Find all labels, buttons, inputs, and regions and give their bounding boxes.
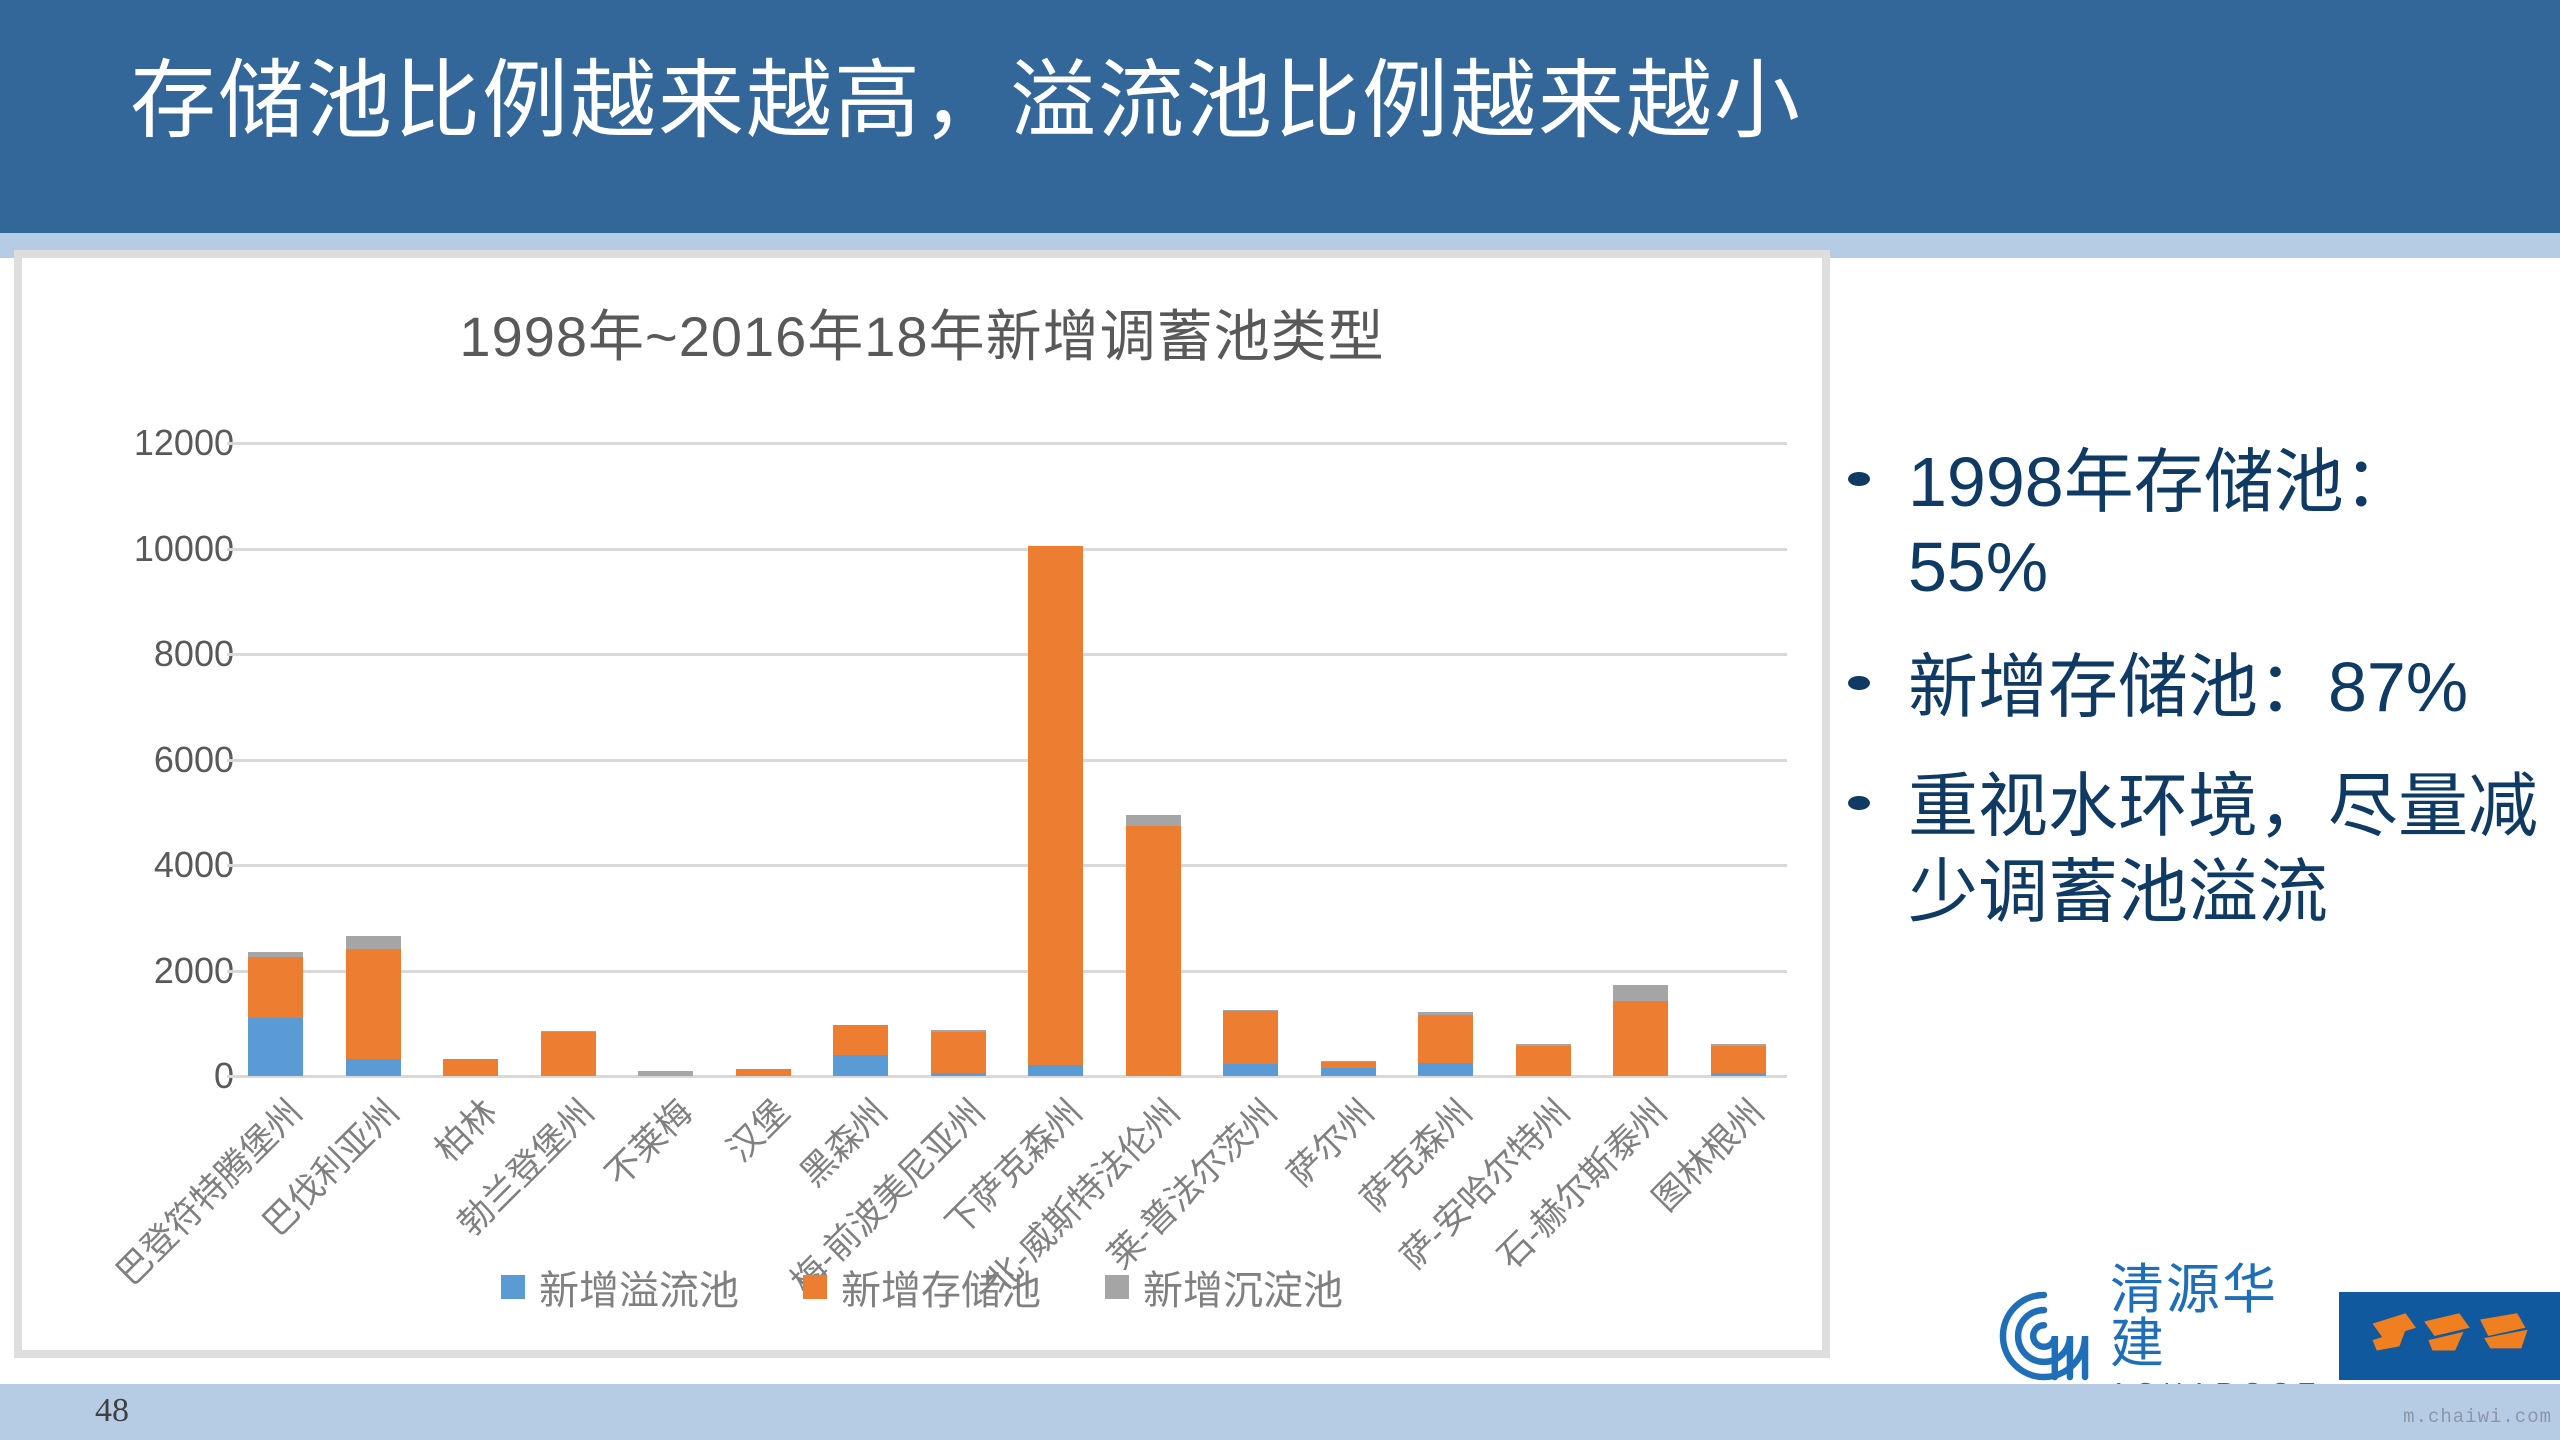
bar-segment[interactable] [1028,1065,1083,1076]
chart-plot-area [227,443,1787,1076]
bullet-text: 1998年存储池：55% [1908,443,2414,606]
bar-stack[interactable] [248,952,303,1076]
bar-stack[interactable] [736,1069,791,1076]
bar-group[interactable] [422,443,520,1076]
bar-segment[interactable] [1711,1046,1766,1073]
bar-segment[interactable] [1418,1063,1473,1076]
slide-root: 存储池比例越来越高，溢流池比例越来越小 1998年~2016年18年新增调蓄池类… [0,0,2560,1440]
legend-label: 新增存储池 [841,1258,1041,1316]
bullet-dot-icon [1848,676,1870,690]
bullet-item: 1998年存储池：55% [1830,440,2550,611]
bar-group[interactable] [1202,443,1300,1076]
bar-segment[interactable] [1223,1064,1278,1076]
bar-stack[interactable] [1711,1044,1766,1076]
bar-segment[interactable] [541,1032,596,1076]
chart-title: 1998年~2016年18年新增调蓄池类型 [22,292,1822,373]
bar-group[interactable] [1105,443,1203,1076]
bar-stack[interactable] [541,1031,596,1076]
chart-card: 1998年~2016年18年新增调蓄池类型 020004000600080001… [14,250,1830,1358]
bar-group[interactable] [227,443,325,1076]
y-axis-tick-label: 4000 [154,844,234,886]
watermark-label: m.chaiwi.com [2403,1406,2552,1428]
y-axis-tick-label: 12000 [134,422,234,464]
bar-stack[interactable] [1321,1061,1376,1076]
bar-stack[interactable] [638,1071,693,1076]
bar-segment[interactable] [1126,826,1181,1076]
bar-segment[interactable] [1223,1011,1278,1064]
x-axis-tick-label: 不莱梅 [591,1086,701,1196]
bar-group[interactable] [715,443,813,1076]
bar-segment[interactable] [248,957,303,1018]
bar-segment[interactable] [833,1055,888,1076]
bar-segment[interactable] [931,1032,986,1073]
bar-segment[interactable] [1028,546,1083,1065]
bar-segment[interactable] [1321,1068,1376,1076]
bar-group[interactable] [1300,443,1398,1076]
legend-swatch-icon [501,1275,525,1299]
y-axis-tick-label: 10000 [134,528,234,570]
y-axis-tick-label: 8000 [154,633,234,675]
bullet-text: 重视水环境，尽量减少调蓄池溢流 [1908,767,2538,930]
bar-segment[interactable] [1126,815,1181,826]
chart-bars [227,443,1787,1076]
bullet-item: 新增存储池：87% [1830,645,2550,730]
bullet-list: 1998年存储池：55%新增存储池：87%重视水环境，尽量减少调蓄池溢流 [1830,440,2550,969]
bar-stack[interactable] [1418,1012,1473,1076]
bullet-text: 新增存储池：87% [1908,648,2468,726]
brand-name-cn: 清源华建 [2110,1263,2333,1371]
legend-swatch-icon [803,1275,827,1299]
bar-group[interactable] [520,443,618,1076]
bar-group[interactable] [812,443,910,1076]
bar-group[interactable] [1007,443,1105,1076]
bar-stack[interactable] [346,936,401,1076]
bgu-logo [2339,1292,2560,1380]
bar-group[interactable] [1690,443,1788,1076]
bullet-dot-icon [1848,796,1870,810]
bar-segment[interactable] [443,1059,498,1076]
bar-segment[interactable] [346,936,401,949]
y-axis-tick-label: 6000 [154,739,234,781]
page-title: 存储池比例越来越高，溢流池比例越来越小 [130,48,1802,156]
bar-group[interactable] [1495,443,1593,1076]
bar-segment[interactable] [1516,1046,1571,1076]
bar-segment[interactable] [736,1069,791,1076]
bar-stack[interactable] [1613,985,1668,1076]
bar-stack[interactable] [1223,1010,1278,1076]
y-axis-tick-label: 2000 [154,950,234,992]
bar-stack[interactable] [833,1025,888,1076]
bar-segment[interactable] [346,1059,401,1076]
bar-segment[interactable] [1613,985,1668,1000]
bar-stack[interactable] [1516,1044,1571,1076]
legend-label: 新增沉淀池 [1143,1258,1343,1316]
bar-group[interactable] [617,443,715,1076]
legend-item[interactable]: 新增存储池 [803,1258,1041,1316]
bar-stack[interactable] [1028,546,1083,1076]
bar-segment[interactable] [248,1018,303,1076]
bar-group[interactable] [325,443,423,1076]
bar-stack[interactable] [443,1059,498,1076]
legend-label: 新增溢流池 [539,1258,739,1316]
bar-segment[interactable] [931,1073,986,1076]
bar-group[interactable] [1397,443,1495,1076]
bullet-item: 重视水环境，尽量减少调蓄池溢流 [1830,764,2550,935]
bar-segment[interactable] [1613,1001,1668,1076]
bar-segment[interactable] [638,1071,693,1076]
bar-group[interactable] [1592,443,1690,1076]
bar-segment[interactable] [1711,1073,1766,1076]
legend-item[interactable]: 新增沉淀池 [1105,1258,1343,1316]
legend-item[interactable]: 新增溢流池 [501,1258,739,1316]
chart-legend: 新增溢流池新增存储池新增沉淀池 [22,1258,1822,1316]
aquaroot-spiral-icon [1990,1282,2098,1390]
slide-footer-band [0,1384,2560,1440]
bar-segment[interactable] [346,949,401,1059]
bar-stack[interactable] [931,1030,986,1076]
page-number: 48 [95,1392,129,1430]
brand-logo: 清源华建 AQUAROOT [1990,1278,2560,1393]
bar-group[interactable] [910,443,1008,1076]
bar-stack[interactable] [1126,815,1181,1076]
bullet-dot-icon [1848,472,1870,486]
bar-segment[interactable] [1418,1015,1473,1062]
bar-segment[interactable] [833,1025,888,1055]
legend-swatch-icon [1105,1275,1129,1299]
